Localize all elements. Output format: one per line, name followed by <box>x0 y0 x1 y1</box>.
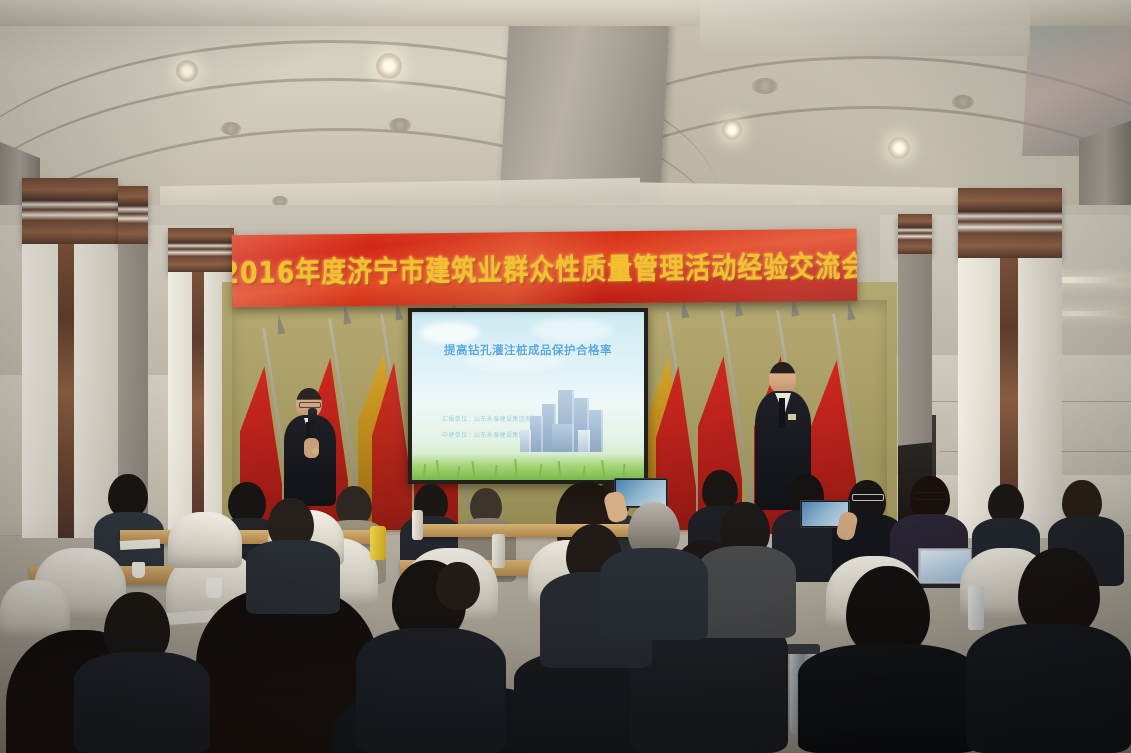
lapel-badge <box>312 448 319 454</box>
thermos <box>968 586 984 630</box>
downlight-icon <box>722 120 742 140</box>
audience-torso <box>246 540 340 614</box>
spear-finial-icon <box>844 299 855 320</box>
projection-screen-frame: 提高钻孔灌注桩成品保护合格率 汇报单位：山东永泰建设集团有限公司 中建单位：山东… <box>408 308 648 484</box>
audience-torso <box>966 624 1131 753</box>
audience-torso-leather <box>798 644 980 753</box>
event-banner: 2016年度济宁市建筑业群众性质量管理活动经验交流会 <box>232 229 858 308</box>
audience-torso <box>356 628 506 753</box>
ceiling-soffit-right <box>700 0 1030 56</box>
audience-table <box>420 524 660 537</box>
downlight-icon <box>221 122 241 135</box>
glasses-icon <box>914 492 948 500</box>
audience-torso <box>74 652 210 753</box>
presenter-right-head <box>769 362 796 394</box>
pocket-square <box>788 414 796 420</box>
audience-torso <box>696 546 796 638</box>
glasses-icon <box>852 494 884 501</box>
presenter-right-tie <box>779 398 785 428</box>
spear-finial-icon <box>274 313 285 334</box>
slide-title: 提高钻孔灌注桩成品保护合格率 <box>412 342 644 358</box>
spear-finial-icon <box>340 303 351 324</box>
thermos-yellow <box>370 526 386 560</box>
banner-text: 2016年度济宁市建筑业群众性质量管理活动经验交流会 <box>232 243 858 292</box>
chair-cover <box>0 580 70 638</box>
thermos <box>492 534 505 568</box>
downlight-icon <box>752 78 778 94</box>
conference-photo: 提高钻孔灌注桩成品保护合格率 汇报单位：山东永泰建设集团有限公司 中建单位：山东… <box>0 0 1131 753</box>
downlight-icon <box>952 95 974 109</box>
thermos <box>412 510 423 540</box>
paper-cup <box>132 562 145 578</box>
paper-cup <box>206 578 222 598</box>
projection-screen: 提高钻孔灌注桩成品保护合格率 汇报单位：山东永泰建设集团有限公司 中建单位：山东… <box>412 312 644 480</box>
downlight-icon <box>176 60 198 82</box>
audience-torso <box>600 548 708 640</box>
ceiling-center-beam <box>500 0 670 200</box>
thermos-lid <box>786 644 820 654</box>
downlight-icon <box>888 137 910 159</box>
downlight-icon <box>376 53 402 79</box>
chair-cover <box>168 512 242 568</box>
audience-head <box>436 562 480 610</box>
downlight-icon <box>389 118 411 132</box>
